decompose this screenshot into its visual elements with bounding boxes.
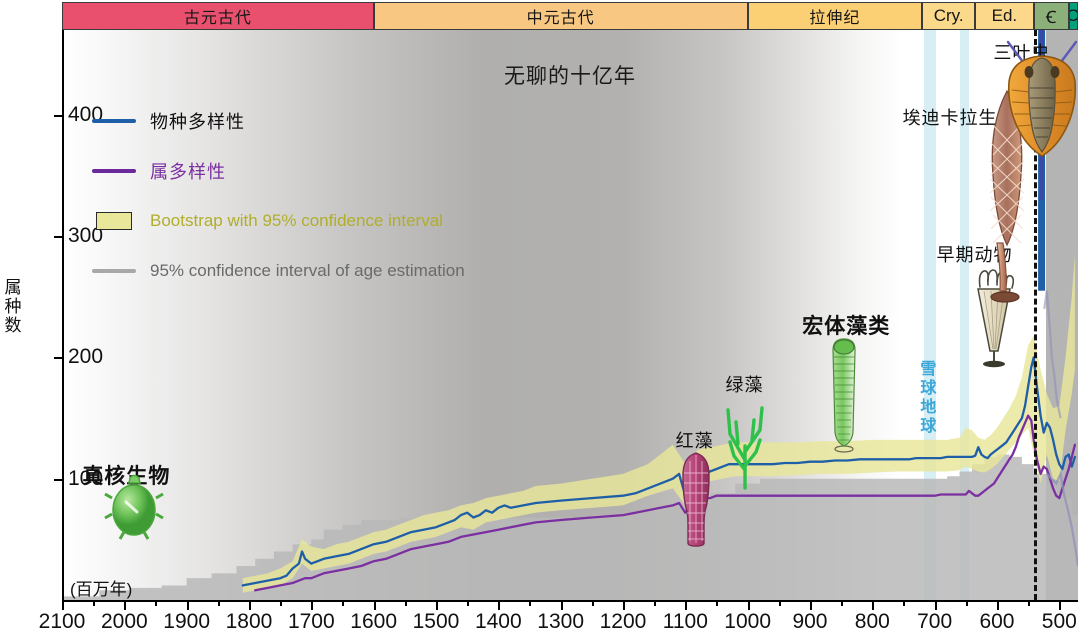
x-tick-label-9: 1200 (600, 610, 647, 634)
x-tick (997, 600, 999, 610)
legend-label: 物种多样性 (150, 108, 245, 134)
legend-item-0[interactable]: 物种多样性 (90, 96, 560, 146)
legend-swatch (90, 119, 138, 122)
eukaryote-icon (104, 470, 164, 540)
period-band-5: Ꞓ (1034, 2, 1069, 30)
x-tick (561, 600, 563, 610)
x-tick-label-0: 2100 (39, 610, 86, 634)
trilobite-icon (1002, 40, 1078, 160)
y-tick-label-1: 200 (68, 345, 103, 369)
period-band-2: 拉伸纪 (748, 2, 923, 30)
annotation-1: 红藻 (676, 427, 714, 453)
legend-label: Bootstrap with 95% confidence interval (150, 211, 443, 231)
legend-item-1[interactable]: 属多样性 (90, 146, 560, 196)
legend-label: 95% confidence interval of age estimatio… (150, 261, 465, 281)
y-axis-label: 属种数 (2, 278, 24, 335)
period-label: 拉伸纪 (809, 4, 860, 28)
x-minor-tick (218, 600, 220, 606)
legend-label: 属多样性 (150, 158, 226, 184)
x-tick (1059, 600, 1061, 610)
period-band-1: 中元古代 (374, 2, 748, 30)
macro-algae-icon (830, 337, 858, 457)
x-tick (62, 600, 64, 610)
snowball-earth-label: 雪球地球 (919, 360, 937, 436)
period-band-3: Cry. (922, 2, 975, 30)
x-tick-label-11: 1000 (724, 610, 771, 634)
x-minor-tick (966, 600, 968, 606)
geologic-period-ribbon: 古元古代中元古代拉伸纪Cry.Ed.ꞒO (62, 2, 1078, 30)
x-tick-label-8: 1300 (537, 610, 584, 634)
x-minor-tick (716, 600, 718, 606)
x-tick-label-5: 1600 (350, 610, 397, 634)
x-axis-line (62, 600, 1078, 602)
x-tick-label-4: 1700 (288, 610, 335, 634)
x-tick (872, 600, 874, 610)
x-tick (498, 600, 500, 610)
period-band-4: Ed. (975, 2, 1034, 30)
period-band-6: O (1069, 2, 1078, 30)
x-minor-tick (1028, 600, 1030, 606)
period-label: 古元古代 (184, 4, 252, 28)
y-tick-label-0: 100 (68, 467, 103, 491)
x-tick (685, 600, 687, 610)
legend-line-icon (92, 269, 136, 272)
x-minor-tick (405, 600, 407, 606)
x-tick (311, 600, 313, 610)
legend: 物种多样性属多样性Bootstrap with 95% confidence i… (90, 96, 560, 296)
legend-swatch (90, 212, 138, 230)
x-tick-label-14: 700 (917, 610, 952, 634)
x-tick (748, 600, 750, 610)
x-minor-tick (467, 600, 469, 606)
y-tick (54, 236, 64, 238)
x-tick (187, 600, 189, 610)
period-label: O (1069, 6, 1078, 26)
x-minor-tick (342, 600, 344, 606)
x-tick (810, 600, 812, 610)
page-title: 无聊的十亿年 (504, 60, 636, 90)
legend-item-2[interactable]: Bootstrap with 95% confidence interval (90, 196, 560, 246)
period-label: Cry. (934, 6, 964, 26)
x-minor-tick (654, 600, 656, 606)
x-tick-label-15: 600 (979, 610, 1014, 634)
x-minor-tick (93, 600, 95, 606)
y-tick (54, 479, 64, 481)
period-label: Ed. (992, 6, 1018, 26)
x-tick-label-13: 800 (855, 610, 890, 634)
x-minor-tick (903, 600, 905, 606)
x-tick-label-3: 1800 (226, 610, 273, 634)
legend-item-3[interactable]: 95% confidence interval of age estimatio… (90, 246, 560, 296)
red-algae-icon (679, 451, 713, 547)
x-minor-tick (155, 600, 157, 606)
x-minor-tick (592, 600, 594, 606)
legend-line-icon (92, 169, 136, 172)
green-algae-icon (722, 400, 768, 490)
x-tick-label-6: 1500 (413, 610, 460, 634)
x-minor-tick (841, 600, 843, 606)
x-tick (124, 600, 126, 610)
legend-box-icon (96, 212, 132, 230)
legend-swatch (90, 269, 138, 272)
period-band-0: 古元古代 (62, 2, 374, 30)
y-tick (54, 357, 64, 359)
x-tick-label-7: 1400 (475, 610, 522, 634)
chart-root: 古元古代中元古代拉伸纪Cry.Ed.ꞒO 雪球地球 真核生物红藻绿藻宏体藻类早期… (0, 0, 1080, 641)
x-tick-label-1: 2000 (101, 610, 148, 634)
x-minor-tick (529, 600, 531, 606)
x-tick-label-10: 1100 (663, 610, 708, 634)
x-axis-unit-label: (百万年) (70, 575, 132, 600)
x-tick (935, 600, 937, 610)
x-tick-label-2: 1900 (163, 610, 210, 634)
legend-swatch (90, 169, 138, 172)
legend-line-icon (92, 119, 136, 122)
annotation-2: 绿藻 (726, 371, 764, 397)
period-label: Ꞓ (1046, 5, 1056, 28)
age-confidence-band (62, 454, 1078, 600)
x-tick-label-12: 900 (792, 610, 827, 634)
x-tick-label-16: 500 (1042, 610, 1077, 634)
x-tick (436, 600, 438, 610)
period-label: 中元古代 (527, 4, 595, 28)
y-tick (54, 115, 64, 117)
x-tick (623, 600, 625, 610)
x-minor-tick (280, 600, 282, 606)
x-tick (249, 600, 251, 610)
x-tick (374, 600, 376, 610)
x-minor-tick (779, 600, 781, 606)
